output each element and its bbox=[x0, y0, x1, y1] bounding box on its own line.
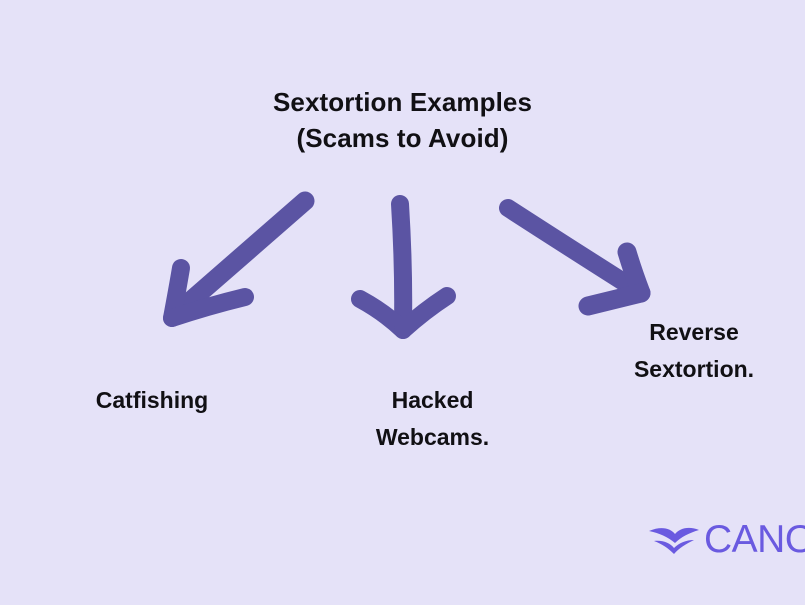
arrow-down-left-icon bbox=[172, 201, 305, 318]
canopy-logo[interactable]: CANOPY bbox=[648, 517, 805, 561]
branch-label-catfishing: Catfishing bbox=[22, 382, 282, 419]
infographic-canvas: Sextortion Examples (Scams to Avoid) Cat… bbox=[0, 0, 805, 605]
branch-label-hacked-webcams: Hacked Webcams. bbox=[315, 382, 550, 456]
page-title: Sextortion Examples (Scams to Avoid) bbox=[0, 84, 805, 156]
branch-label-reverse-sextortion: Reverse Sextortion. bbox=[585, 314, 803, 388]
canopy-wordmark: CANOPY bbox=[704, 520, 805, 559]
canopy-wings-icon bbox=[648, 522, 700, 556]
arrow-down-right-icon bbox=[508, 208, 641, 306]
title-line-2: (Scams to Avoid) bbox=[0, 120, 805, 156]
arrow-down-icon bbox=[360, 204, 447, 330]
title-line-1: Sextortion Examples bbox=[0, 84, 805, 120]
